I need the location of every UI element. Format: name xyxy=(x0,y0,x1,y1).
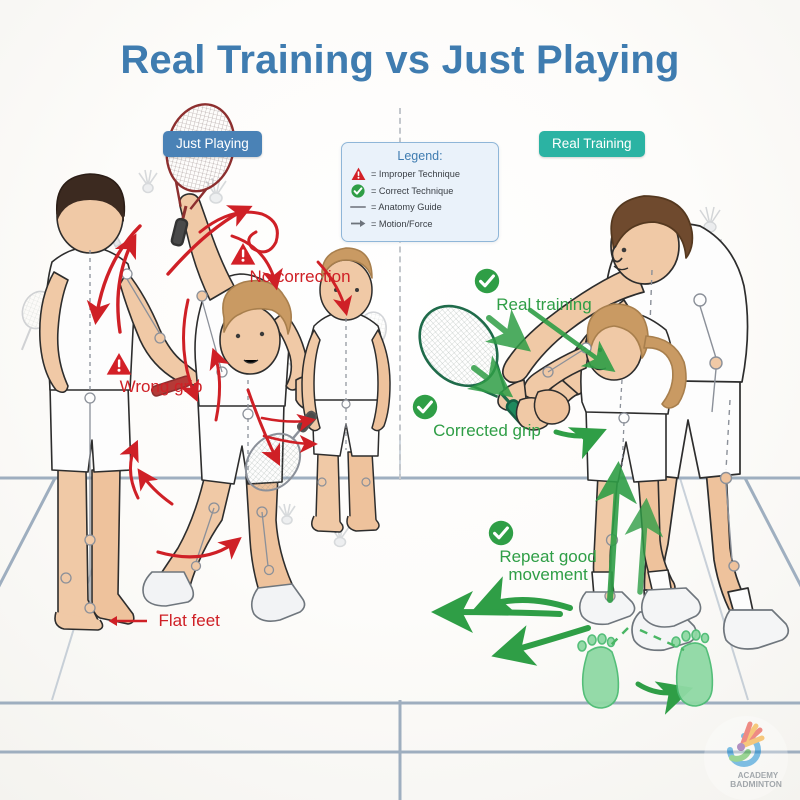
callout-repeat-good-movement: Repeat good movement xyxy=(488,520,608,584)
callout-real-training: Real training xyxy=(474,268,614,314)
page-title: Real Training vs Just Playing xyxy=(0,38,800,83)
callout-real-training-text: Real training xyxy=(474,296,614,314)
legend-item-improper-label: = Improper Technique xyxy=(371,169,460,179)
legend-item-improper: = Improper Technique xyxy=(350,167,490,181)
callout-flat-feet: Flat feet xyxy=(108,612,268,630)
legend-item-correct: = Correct Technique xyxy=(350,184,490,198)
check-circle-icon xyxy=(412,394,562,420)
badge-real-training-label: Real Training xyxy=(552,136,632,151)
logo-line2: BADMINTON xyxy=(730,779,782,789)
callout-no-correction: No correction xyxy=(230,242,370,286)
warning-triangle-icon xyxy=(350,167,366,181)
legend-item-anatomy: = Anatomy Guide xyxy=(350,200,490,214)
callout-repeat-good-movement-text: Repeat good movement xyxy=(493,548,603,584)
callout-no-correction-text: No correction xyxy=(230,268,370,286)
arrow-left-icon xyxy=(108,615,148,627)
legend-item-correct-label: = Correct Technique xyxy=(371,186,453,196)
badge-just-playing-label: Just Playing xyxy=(176,136,249,151)
legend-item-motion-label: = Motion/Force xyxy=(371,219,433,229)
legend-item-motion: = Motion/Force xyxy=(350,217,490,231)
line-icon xyxy=(350,200,366,214)
callout-wrong-grip-text: Wrong grip xyxy=(106,378,216,396)
callout-flat-feet-text: Flat feet xyxy=(158,611,219,630)
academy-badminton-logo: ACADEMY BADMINTON xyxy=(700,716,792,800)
badge-just-playing[interactable]: Just Playing xyxy=(163,131,262,157)
callout-corrected-grip-text: Corrected grip xyxy=(412,422,562,440)
legend-title: Legend: xyxy=(350,149,490,163)
callout-corrected-grip: Corrected grip xyxy=(412,394,562,440)
warning-triangle-icon xyxy=(230,242,370,266)
check-circle-icon xyxy=(350,184,366,198)
badge-real-training[interactable]: Real Training xyxy=(539,131,645,157)
legend-panel: Legend: = Improper Technique = Correct T… xyxy=(341,142,499,242)
callout-wrong-grip: Wrong grip xyxy=(106,352,206,396)
legend-item-anatomy-label: = Anatomy Guide xyxy=(371,202,442,212)
check-circle-icon xyxy=(488,520,608,546)
arrow-right-icon xyxy=(350,217,366,231)
check-circle-icon xyxy=(474,268,614,294)
infographic-poster: Real Training vs Just Playing Just Playi… xyxy=(0,0,800,800)
warning-triangle-icon xyxy=(106,352,206,376)
